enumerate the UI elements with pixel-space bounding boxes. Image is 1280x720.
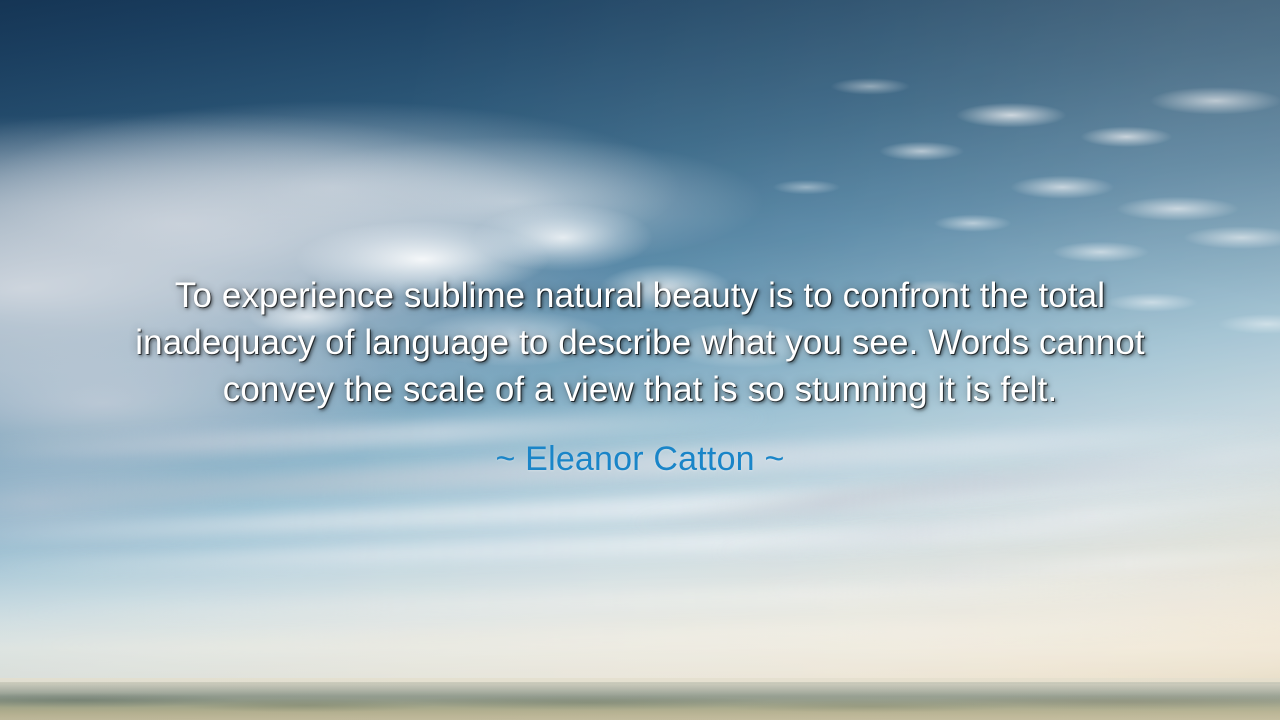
- quote-line-3: convey the scale of a view that is so st…: [40, 366, 1240, 413]
- quote-overlay: To experience sublime natural beauty is …: [0, 272, 1280, 479]
- quote-attribution: ~ Eleanor Catton ~: [40, 439, 1240, 479]
- quote-image-canvas: To experience sublime natural beauty is …: [0, 0, 1280, 720]
- quote-line-2: inadequacy of language to describe what …: [40, 319, 1240, 366]
- quote-line-1: To experience sublime natural beauty is …: [40, 272, 1240, 319]
- landscape-haze: [0, 678, 1280, 700]
